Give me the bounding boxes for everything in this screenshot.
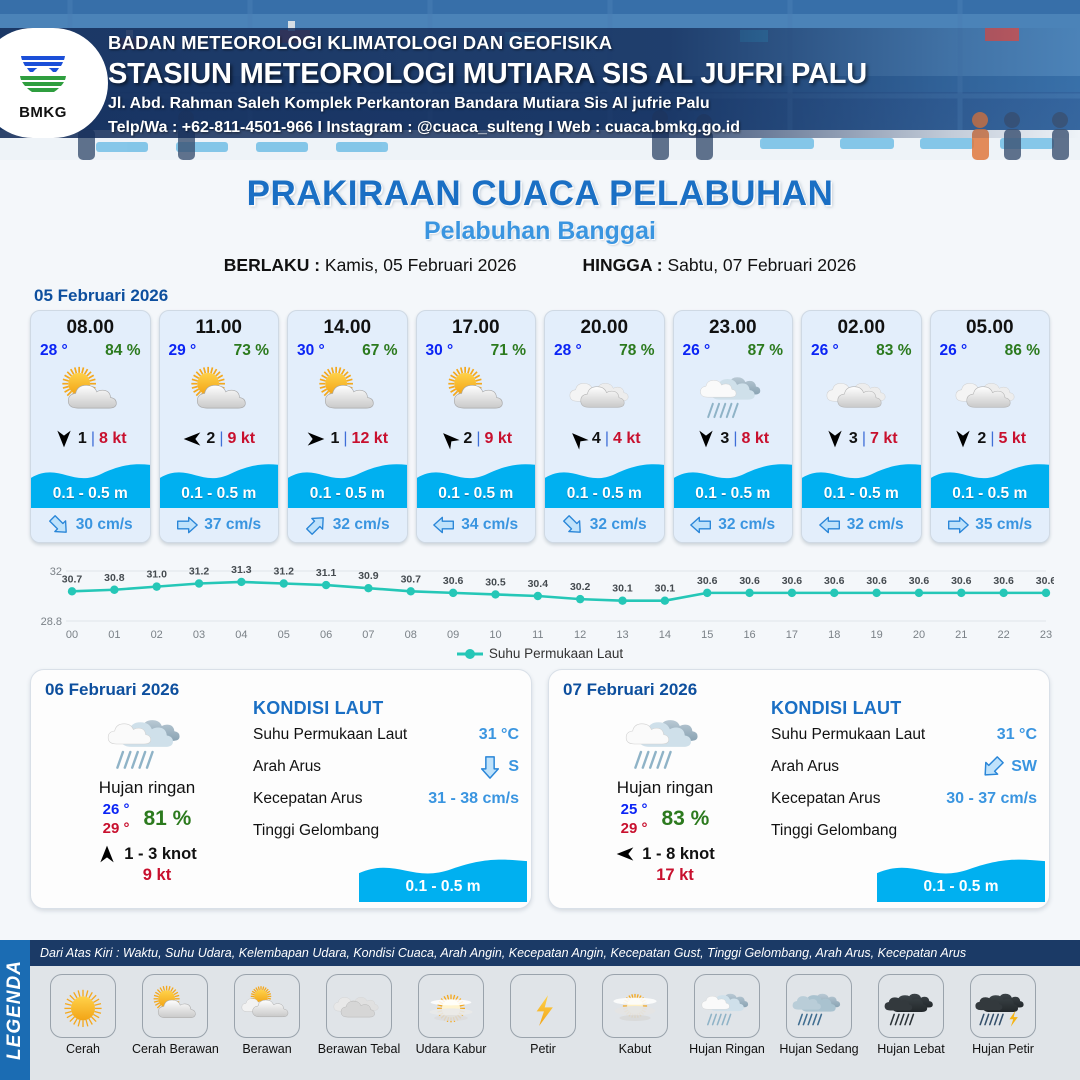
mostly-cloudy-icon — [234, 974, 300, 1038]
legend-main: Dari Atas Kiri : Waktu, Suhu Udara, Kele… — [30, 940, 1080, 1080]
card-gust: 8 kt — [741, 430, 769, 448]
card-wind: 1 | 12 kt — [288, 424, 407, 454]
card-temperature: 26 ° — [683, 342, 711, 360]
svg-text:21: 21 — [955, 629, 967, 641]
card-wind: 2 | 9 kt — [160, 424, 279, 454]
card-wind: 2 | 9 kt — [417, 424, 536, 454]
daily-gust: 17 kt — [565, 866, 765, 885]
current-direction-arrow-icon — [48, 514, 70, 536]
daily-sea-title: KONDISI LAUT — [253, 698, 519, 719]
card-humidity: 71 % — [491, 342, 526, 360]
daily-row-value: SW — [981, 755, 1037, 779]
daily-row-label: Suhu Permukaan Laut — [771, 726, 925, 744]
svg-text:30.6: 30.6 — [739, 575, 760, 587]
card-wave-height: 0.1 - 0.5 m — [160, 485, 279, 503]
card-temperature: 30 ° — [426, 342, 454, 360]
valid-from: BERLAKU : Kamis, 05 Februari 2026 — [224, 255, 517, 276]
card-current-speed: 32 cm/s — [847, 516, 904, 534]
svg-text:31.0: 31.0 — [146, 569, 167, 581]
card-current: 32 cm/s — [802, 508, 921, 542]
chart-legend-label: Suhu Permukaan Laut — [489, 646, 623, 661]
daily-row-value: 31 °C — [479, 726, 519, 744]
legend-side-bar: LEGENDA — [0, 940, 30, 1080]
daily-row-wave: Tinggi Gelombang — [771, 815, 1037, 847]
svg-text:31.2: 31.2 — [274, 566, 295, 578]
card-wind-scale: 3 — [849, 430, 858, 448]
page-subtitle: Pelabuhan Banggai — [0, 217, 1080, 246]
card-wind-separator: | — [219, 430, 223, 448]
card-time: 14.00 — [288, 317, 407, 339]
svg-text:30.8: 30.8 — [104, 572, 125, 584]
daily-temp-max: 29 ° — [103, 820, 130, 837]
valid-until: HINGGA : Sabtu, 07 Februari 2026 — [583, 255, 857, 276]
card-current-speed: 35 cm/s — [975, 516, 1032, 534]
card-wave-height: 0.1 - 0.5 m — [545, 485, 664, 503]
svg-text:30.6: 30.6 — [697, 575, 718, 587]
daily-row-label: Arah Arus — [771, 758, 839, 776]
card-gust: 8 kt — [99, 430, 127, 448]
daily-row-label: Tinggi Gelombang — [253, 822, 379, 840]
hourly-card[interactable]: 05.00 26 ° 86 % 2 | 5 kt 0.1 - 0.5 m — [930, 310, 1051, 543]
daily-temp-range: 26 ° 29 ° — [103, 800, 130, 838]
card-humidity: 83 % — [876, 342, 911, 360]
svg-text:32: 32 — [50, 566, 62, 578]
svg-text:05: 05 — [278, 629, 290, 641]
daily-temp-min: 25 ° — [621, 801, 648, 818]
chart-legend: Suhu Permukaan Laut — [0, 646, 1080, 661]
card-temp-hum: 30 ° 71 % — [417, 339, 536, 360]
card-humidity: 86 % — [1005, 342, 1040, 360]
daily-wind-range: 1 - 3 knot — [124, 845, 196, 864]
daily-sea-conditions: KONDISI LAUT Suhu Permukaan Laut 31 °C A… — [771, 698, 1037, 847]
svg-text:04: 04 — [235, 629, 247, 641]
svg-text:30.6: 30.6 — [909, 575, 930, 587]
current-direction-arrow-icon — [981, 755, 1005, 779]
sst-chart: 3228.830.70030.80131.00231.20331.30431.2… — [26, 553, 1054, 643]
svg-text:30.1: 30.1 — [655, 583, 676, 595]
card-gust: 7 kt — [870, 430, 898, 448]
partly-cloudy-icon — [288, 362, 407, 424]
hourly-card[interactable]: 08.00 28 ° 84 % 1 | 8 kt 0.1 - 0.5 m — [30, 310, 151, 543]
card-humidity: 84 % — [105, 342, 140, 360]
svg-text:14: 14 — [659, 629, 671, 641]
daily-wind: 1 - 8 knot — [565, 844, 765, 864]
daily-row-value: 30 - 37 cm/s — [946, 790, 1037, 808]
legend-item: Berawan Tebal — [316, 974, 402, 1056]
wind-direction-arrow-icon — [439, 429, 459, 449]
hourly-card[interactable]: 11.00 29 ° 73 % 2 | 9 kt 0.1 - 0.5 m — [159, 310, 280, 543]
daily-row-label: Kecepatan Arus — [253, 790, 362, 808]
card-wind-scale: 1 — [78, 430, 87, 448]
current-direction-arrow-icon — [478, 755, 502, 779]
svg-text:16: 16 — [743, 629, 755, 641]
card-temp-hum: 28 ° 78 % — [545, 339, 664, 360]
daily-forecast-panel[interactable]: 06 Februari 2026 Hujan ringan 26 ° 29 ° … — [30, 669, 532, 909]
svg-text:28.8: 28.8 — [41, 616, 62, 628]
station-name: STASIUN METEOROLOGI MUTIARA SIS AL JUFRI… — [108, 56, 867, 92]
card-time: 05.00 — [931, 317, 1050, 339]
current-direction-arrow-icon — [819, 514, 841, 536]
current-direction-arrow-icon — [433, 514, 455, 536]
legend-item-label: Hujan Ringan — [684, 1042, 770, 1056]
sunny-icon — [50, 974, 116, 1038]
card-wind-separator: | — [990, 430, 994, 448]
card-wave: 0.1 - 0.5 m — [160, 454, 279, 508]
hourly-card[interactable]: 23.00 26 ° 87 % 3 | 8 kt 0.1 - 0.5 m — [673, 310, 794, 543]
page-title: PRAKIRAAN CUACA PELABUHAN — [0, 174, 1080, 214]
card-time: 17.00 — [417, 317, 536, 339]
wind-direction-arrow-icon — [696, 429, 716, 449]
daily-temp-range: 25 ° 29 ° — [621, 800, 648, 838]
daily-left-block: Hujan ringan 26 ° 29 ° 81 % 1 - 3 knot 9… — [47, 702, 247, 885]
card-wind-separator: | — [476, 430, 480, 448]
card-wave-height: 0.1 - 0.5 m — [288, 485, 407, 503]
svg-text:30.6: 30.6 — [443, 575, 464, 587]
daily-left-block: Hujan ringan 25 ° 29 ° 83 % 1 - 8 knot 1… — [565, 702, 765, 885]
overcast-icon — [326, 974, 392, 1038]
card-current: 32 cm/s — [545, 508, 664, 542]
card-wave: 0.1 - 0.5 m — [288, 454, 407, 508]
hourly-forecast-row: 08.00 28 ° 84 % 1 | 8 kt 0.1 - 0.5 m — [0, 310, 1080, 543]
card-humidity: 67 % — [362, 342, 397, 360]
hourly-card[interactable]: 17.00 30 ° 71 % 2 | 9 kt 0.1 - 0.5 m — [416, 310, 537, 543]
card-wave: 0.1 - 0.5 m — [545, 454, 664, 508]
card-gust: 5 kt — [998, 430, 1026, 448]
valid-until-label: HINGGA : — [583, 255, 663, 275]
daily-row-value: 31 °C — [997, 726, 1037, 744]
card-wind-separator: | — [605, 430, 609, 448]
daily-temperatures: 25 ° 29 ° 83 % — [565, 800, 765, 838]
legend-item-label: Hujan Sedang — [776, 1042, 862, 1056]
card-temp-hum: 26 ° 83 % — [802, 339, 921, 360]
card-time: 08.00 — [31, 317, 150, 339]
thunderstorm-icon — [970, 974, 1036, 1038]
bmkg-logo-mark — [13, 46, 73, 102]
card-humidity: 78 % — [619, 342, 654, 360]
card-current-speed: 32 cm/s — [333, 516, 390, 534]
legend-item-label: Kabut — [592, 1042, 678, 1056]
wind-direction-arrow-icon — [97, 844, 117, 864]
card-time: 02.00 — [802, 317, 921, 339]
card-wind: 4 | 4 kt — [545, 424, 664, 454]
card-current: 32 cm/s — [674, 508, 793, 542]
svg-text:30.6: 30.6 — [951, 575, 972, 587]
light-rain-icon — [47, 702, 247, 776]
card-gust: 9 kt — [227, 430, 255, 448]
card-wind-scale: 1 — [330, 430, 339, 448]
moderate-rain-icon — [786, 974, 852, 1038]
page-header: BMKG BADAN METEOROLOGI KLIMATOLOGI DAN G… — [0, 0, 1080, 160]
svg-text:01: 01 — [108, 629, 120, 641]
svg-text:30.6: 30.6 — [866, 575, 887, 587]
daily-row-wave: Tinggi Gelombang — [253, 815, 519, 847]
lightning-icon — [510, 974, 576, 1038]
wind-direction-arrow-icon — [54, 429, 74, 449]
current-direction-arrow-icon — [305, 514, 327, 536]
current-direction-arrow-icon — [176, 514, 198, 536]
legend-item-label: Hujan Lebat — [868, 1042, 954, 1056]
agency-name: BADAN METEOROLOGI KLIMATOLOGI DAN GEOFIS… — [108, 30, 867, 56]
card-temperature: 30 ° — [297, 342, 325, 360]
wind-direction-arrow-icon — [825, 429, 845, 449]
chart-legend-marker — [457, 648, 483, 660]
svg-text:15: 15 — [701, 629, 713, 641]
legend-item-label: Cerah Berawan — [132, 1042, 218, 1056]
svg-text:10: 10 — [489, 629, 501, 641]
card-wind-scale: 2 — [206, 430, 215, 448]
svg-text:30.6: 30.6 — [782, 575, 803, 587]
svg-text:18: 18 — [828, 629, 840, 641]
station-address: Jl. Abd. Rahman Saleh Komplek Perkantora… — [108, 92, 867, 116]
legend-item-label: Petir — [500, 1042, 586, 1056]
card-wave-height: 0.1 - 0.5 m — [802, 485, 921, 503]
haze-icon — [418, 974, 484, 1038]
card-temperature: 28 ° — [40, 342, 68, 360]
legend-note: Dari Atas Kiri : Waktu, Suhu Udara, Kele… — [30, 940, 1080, 966]
card-humidity: 87 % — [748, 342, 783, 360]
valid-from-label: BERLAKU : — [224, 255, 320, 275]
svg-text:12: 12 — [574, 629, 586, 641]
legend-side-label: LEGENDA — [4, 960, 26, 1060]
daily-row-current-direction: Arah Arus S — [253, 751, 519, 783]
daily-condition: Hujan ringan — [47, 778, 247, 798]
card-current-speed: 37 cm/s — [204, 516, 261, 534]
svg-text:31.3: 31.3 — [231, 564, 252, 576]
daily-wind: 1 - 3 knot — [47, 844, 247, 864]
daily-forecast-panel[interactable]: 07 Februari 2026 Hujan ringan 25 ° 29 ° … — [548, 669, 1050, 909]
card-current-speed: 30 cm/s — [76, 516, 133, 534]
card-temp-hum: 29 ° 73 % — [160, 339, 279, 360]
current-direction-arrow-icon — [562, 514, 584, 536]
legend-items: Cerah Cerah Berawan Berawan — [30, 966, 1080, 1056]
bmkg-logo: BMKG — [0, 28, 108, 138]
daily-condition: Hujan ringan — [565, 778, 765, 798]
daily-row-label: Tinggi Gelombang — [771, 822, 897, 840]
legend-item: Hujan Sedang — [776, 974, 862, 1056]
legend-item: Hujan Petir — [960, 974, 1046, 1056]
svg-text:30.7: 30.7 — [62, 573, 83, 585]
card-wave-height: 0.1 - 0.5 m — [931, 485, 1050, 503]
svg-text:07: 07 — [362, 629, 374, 641]
svg-text:08: 08 — [405, 629, 417, 641]
card-current: 32 cm/s — [288, 508, 407, 542]
svg-text:30.6: 30.6 — [824, 575, 845, 587]
cloudy-icon — [931, 362, 1050, 424]
card-wind: 3 | 8 kt — [674, 424, 793, 454]
daily-wave-block: 0.1 - 0.5 m — [877, 850, 1045, 902]
svg-text:31.1: 31.1 — [316, 567, 337, 579]
legend-item: Berawan — [224, 974, 310, 1056]
svg-text:30.1: 30.1 — [612, 583, 633, 595]
svg-text:30.9: 30.9 — [358, 570, 379, 582]
card-current: 37 cm/s — [160, 508, 279, 542]
station-contact: Telp/Wa : +62-811-4501-966 I Instagram :… — [108, 116, 867, 140]
legend-item-label: Cerah — [40, 1042, 126, 1056]
svg-text:11: 11 — [532, 629, 543, 641]
cloudy-icon — [802, 362, 921, 424]
card-humidity: 73 % — [234, 342, 269, 360]
card-time: 20.00 — [545, 317, 664, 339]
hourly-card[interactable]: 02.00 26 ° 83 % 3 | 7 kt 0.1 - 0.5 m — [801, 310, 922, 543]
legend-item-label: Udara Kabur — [408, 1042, 494, 1056]
card-temperature: 26 ° — [940, 342, 968, 360]
svg-text:31.2: 31.2 — [189, 566, 210, 578]
legend-item-label: Berawan — [224, 1042, 310, 1056]
svg-text:30.2: 30.2 — [570, 581, 591, 593]
valid-until-value: Sabtu, 07 Februari 2026 — [667, 255, 856, 275]
daily-temp-min: 26 ° — [103, 801, 130, 818]
wind-direction-arrow-icon — [615, 844, 635, 864]
hourly-card[interactable]: 14.00 30 ° 67 % 1 | 12 kt 0.1 - 0.5 m — [287, 310, 408, 543]
svg-text:17: 17 — [786, 629, 798, 641]
daily-temp-max: 29 ° — [621, 820, 648, 837]
daily-row-current-direction: Arah Arus SW — [771, 751, 1037, 783]
daily-temperatures: 26 ° 29 ° 81 % — [47, 800, 247, 838]
svg-text:19: 19 — [870, 629, 882, 641]
card-gust: 12 kt — [352, 430, 388, 448]
daily-sea-conditions: KONDISI LAUT Suhu Permukaan Laut 31 °C A… — [253, 698, 519, 847]
daily-date: 07 Februari 2026 — [563, 680, 1035, 700]
daily-humidity: 83 % — [661, 807, 709, 831]
daily-row-label: Kecepatan Arus — [771, 790, 880, 808]
legend-item: Hujan Lebat — [868, 974, 954, 1056]
card-temp-hum: 26 ° 87 % — [674, 339, 793, 360]
svg-text:30.7: 30.7 — [401, 573, 422, 585]
wind-direction-arrow-icon — [306, 429, 326, 449]
card-wind-separator: | — [91, 430, 95, 448]
svg-text:00: 00 — [66, 629, 78, 641]
fog-icon — [602, 974, 668, 1038]
svg-text:30.4: 30.4 — [528, 578, 549, 590]
card-wind-scale: 2 — [977, 430, 986, 448]
daily-wave-height: 0.1 - 0.5 m — [359, 878, 527, 896]
legend-item-label: Hujan Petir — [960, 1042, 1046, 1056]
daily-row-label: Arah Arus — [253, 758, 321, 776]
legend-item: Cerah — [40, 974, 126, 1056]
card-wave: 0.1 - 0.5 m — [31, 454, 150, 508]
svg-text:13: 13 — [616, 629, 628, 641]
svg-text:30.6: 30.6 — [1036, 575, 1054, 587]
card-current: 30 cm/s — [31, 508, 150, 542]
card-wind-separator: | — [862, 430, 866, 448]
daily-row: Suhu Permukaan Laut 31 °C — [253, 719, 519, 751]
card-wind-scale: 4 — [592, 430, 601, 448]
svg-text:22: 22 — [998, 629, 1010, 641]
current-direction-arrow-icon — [690, 514, 712, 536]
card-wind: 3 | 7 kt — [802, 424, 921, 454]
light-rain-icon — [565, 702, 765, 776]
card-wave: 0.1 - 0.5 m — [802, 454, 921, 508]
card-current: 35 cm/s — [931, 508, 1050, 542]
daily-gust: 9 kt — [47, 866, 247, 885]
card-wind: 2 | 5 kt — [931, 424, 1050, 454]
daily-date: 06 Februari 2026 — [45, 680, 517, 700]
card-wind-separator: | — [733, 430, 737, 448]
card-temperature: 26 ° — [811, 342, 839, 360]
card-temp-hum: 26 ° 86 % — [931, 339, 1050, 360]
daily-forecast-row: 06 Februari 2026 Hujan ringan 26 ° 29 ° … — [0, 661, 1080, 909]
daily-row: Suhu Permukaan Laut 31 °C — [771, 719, 1037, 751]
svg-text:20: 20 — [913, 629, 925, 641]
card-wave: 0.1 - 0.5 m — [674, 454, 793, 508]
daily-row: Kecepatan Arus 30 - 37 cm/s — [771, 783, 1037, 815]
card-wind-scale: 3 — [720, 430, 729, 448]
svg-text:06: 06 — [320, 629, 332, 641]
wind-direction-arrow-icon — [953, 429, 973, 449]
legend-footer: LEGENDA Dari Atas Kiri : Waktu, Suhu Uda… — [0, 940, 1080, 1080]
card-temperature: 28 ° — [554, 342, 582, 360]
svg-text:30.5: 30.5 — [485, 576, 506, 588]
hourly-card[interactable]: 20.00 28 ° 78 % 4 | 4 kt 0.1 - 0.5 m — [544, 310, 665, 543]
partly-cloudy-icon — [142, 974, 208, 1038]
card-wave-height: 0.1 - 0.5 m — [417, 485, 536, 503]
svg-text:09: 09 — [447, 629, 459, 641]
svg-text:30.6: 30.6 — [993, 575, 1014, 587]
card-gust: 9 kt — [484, 430, 512, 448]
legend-item: Hujan Ringan — [684, 974, 770, 1056]
daily-humidity: 81 % — [143, 807, 191, 831]
legend-item-label: Berawan Tebal — [316, 1042, 402, 1056]
title-block: PRAKIRAAN CUACA PELABUHAN Pelabuhan Bang… — [0, 174, 1080, 276]
card-temp-hum: 28 ° 84 % — [31, 339, 150, 360]
card-current: 34 cm/s — [417, 508, 536, 542]
valid-from-value: Kamis, 05 Februari 2026 — [325, 255, 517, 275]
card-wind: 1 | 8 kt — [31, 424, 150, 454]
partly-cloudy-icon — [31, 362, 150, 424]
cloudy-icon — [545, 362, 664, 424]
partly-cloudy-icon — [160, 362, 279, 424]
card-wave: 0.1 - 0.5 m — [931, 454, 1050, 508]
card-wind-scale: 2 — [463, 430, 472, 448]
bmkg-logo-text: BMKG — [19, 104, 67, 121]
hourly-date-label: 05 Februari 2026 — [34, 286, 1080, 306]
daily-row-value: 31 - 38 cm/s — [428, 790, 519, 808]
daily-sea-title: KONDISI LAUT — [771, 698, 1037, 719]
daily-wave-block: 0.1 - 0.5 m — [359, 850, 527, 902]
card-wave-height: 0.1 - 0.5 m — [31, 485, 150, 503]
card-temperature: 29 ° — [169, 342, 197, 360]
card-gust: 4 kt — [613, 430, 641, 448]
daily-wind-range: 1 - 8 knot — [642, 845, 714, 864]
light-rain-icon — [674, 362, 793, 424]
wind-direction-arrow-icon — [182, 429, 202, 449]
legend-item: Kabut — [592, 974, 678, 1056]
card-temp-hum: 30 ° 67 % — [288, 339, 407, 360]
legend-item: Udara Kabur — [408, 974, 494, 1056]
daily-wave-height: 0.1 - 0.5 m — [877, 878, 1045, 896]
card-wave: 0.1 - 0.5 m — [417, 454, 536, 508]
card-time: 11.00 — [160, 317, 279, 339]
card-time: 23.00 — [674, 317, 793, 339]
card-current-speed: 34 cm/s — [461, 516, 518, 534]
light-rain-icon — [694, 974, 760, 1038]
legend-item: Petir — [500, 974, 586, 1056]
card-current-speed: 32 cm/s — [590, 516, 647, 534]
heavy-rain-icon — [878, 974, 944, 1038]
validity-row: BERLAKU : Kamis, 05 Februari 2026 HINGGA… — [0, 255, 1080, 276]
partly-cloudy-icon — [417, 362, 536, 424]
card-wave-height: 0.1 - 0.5 m — [674, 485, 793, 503]
card-wind-separator: | — [343, 430, 347, 448]
daily-row-value: S — [478, 755, 519, 779]
daily-row-label: Suhu Permukaan Laut — [253, 726, 407, 744]
header-text-block: BADAN METEOROLOGI KLIMATOLOGI DAN GEOFIS… — [108, 30, 867, 140]
daily-row: Kecepatan Arus 31 - 38 cm/s — [253, 783, 519, 815]
current-direction-arrow-icon — [947, 514, 969, 536]
svg-text:03: 03 — [193, 629, 205, 641]
svg-text:23: 23 — [1040, 629, 1052, 641]
card-current-speed: 32 cm/s — [718, 516, 775, 534]
